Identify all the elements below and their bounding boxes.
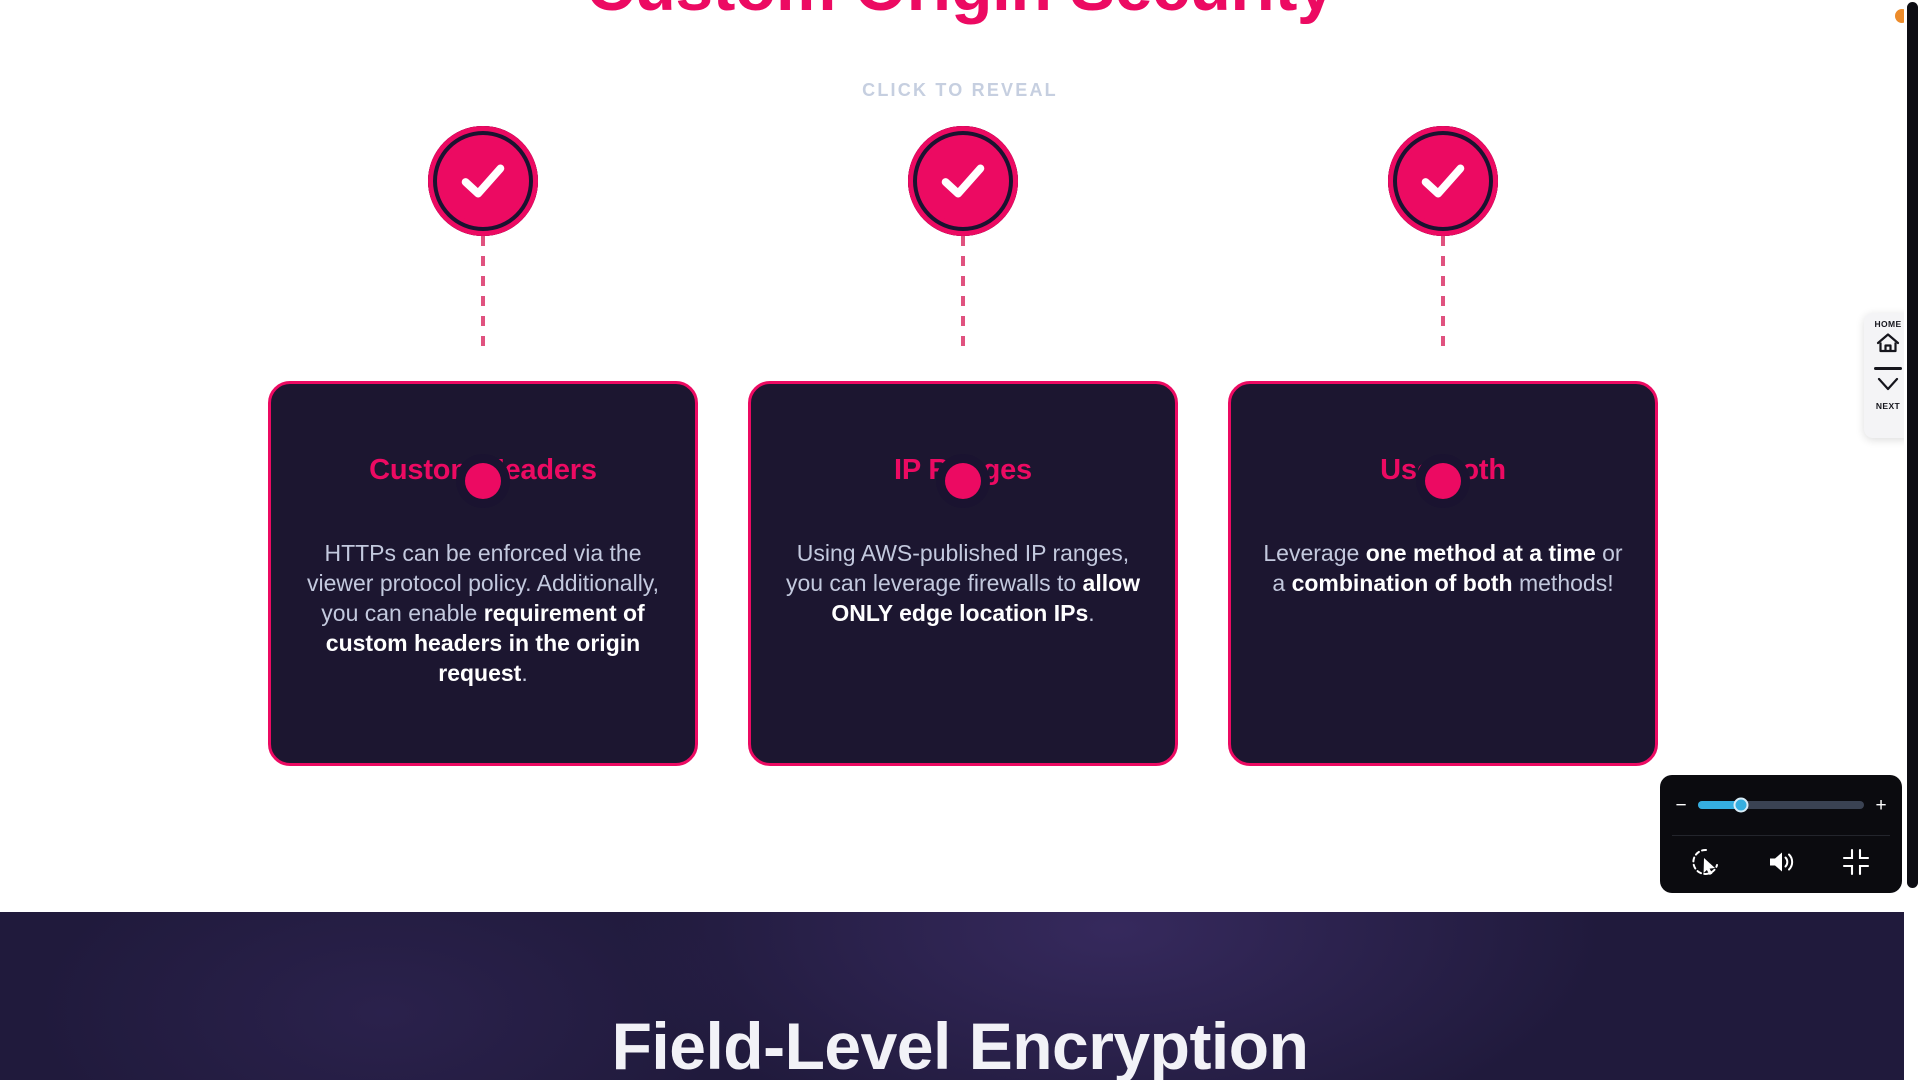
- zoom-slider[interactable]: [1698, 801, 1864, 809]
- dashed-connector-line: [481, 236, 485, 348]
- click-to-reveal-hint: CLICK TO REVEAL: [0, 80, 1920, 101]
- card-body-text: HTTPs can be enforced via the viewer pro…: [301, 539, 665, 688]
- connector-node-dot: [465, 463, 501, 499]
- check-circle-icon[interactable]: [428, 126, 538, 236]
- page-title: Custom Origin Security: [0, 0, 1920, 26]
- dashed-connector-line: [961, 236, 965, 348]
- feature-card[interactable]: Custom HeadersHTTPs can be enforced via …: [268, 381, 698, 766]
- zoom-out-button[interactable]: −: [1674, 796, 1688, 815]
- control-icon-row: [1660, 836, 1902, 893]
- divider-line: [1874, 367, 1902, 370]
- next-label: NEXT: [1876, 401, 1900, 411]
- volume-icon[interactable]: [1766, 847, 1796, 882]
- dashed-connector-line: [1441, 236, 1445, 348]
- home-label: HOME: [1874, 319, 1901, 329]
- page-root: Custom Origin Security CLICK TO REVEAL C…: [0, 0, 1920, 1080]
- card-body-text: Leverage one method at a time or a combi…: [1261, 539, 1625, 599]
- card-body-text: Using AWS-published IP ranges, you can l…: [781, 539, 1145, 629]
- cursor-select-icon[interactable]: [1691, 847, 1721, 882]
- connector-node-dot: [945, 463, 981, 499]
- chevron-down-icon[interactable]: [1875, 375, 1901, 399]
- zoom-in-button[interactable]: +: [1874, 796, 1888, 815]
- check-circle-icon[interactable]: [1388, 126, 1498, 236]
- connector-node-dot: [1425, 463, 1461, 499]
- house-icon[interactable]: [1875, 331, 1901, 360]
- zoom-slider-thumb[interactable]: [1734, 798, 1749, 813]
- check-circle-icon[interactable]: [908, 126, 1018, 236]
- exit-fullscreen-icon[interactable]: [1841, 847, 1871, 882]
- slide-field-level-encryption: Field-Level Encryption: [0, 912, 1920, 1080]
- bottom-section-title: Field-Level Encryption: [0, 1008, 1920, 1080]
- zoom-control-row: − +: [1660, 775, 1902, 835]
- feature-card[interactable]: IP RangesUsing AWS-published IP ranges, …: [748, 381, 1178, 766]
- player-control-bar: − +: [1660, 775, 1902, 893]
- slide-custom-origin-security: Custom Origin Security CLICK TO REVEAL C…: [0, 0, 1920, 912]
- vertical-scrollbar-thumb[interactable]: [1907, 2, 1918, 888]
- feature-card[interactable]: Use BothLeverage one method at a time or…: [1228, 381, 1658, 766]
